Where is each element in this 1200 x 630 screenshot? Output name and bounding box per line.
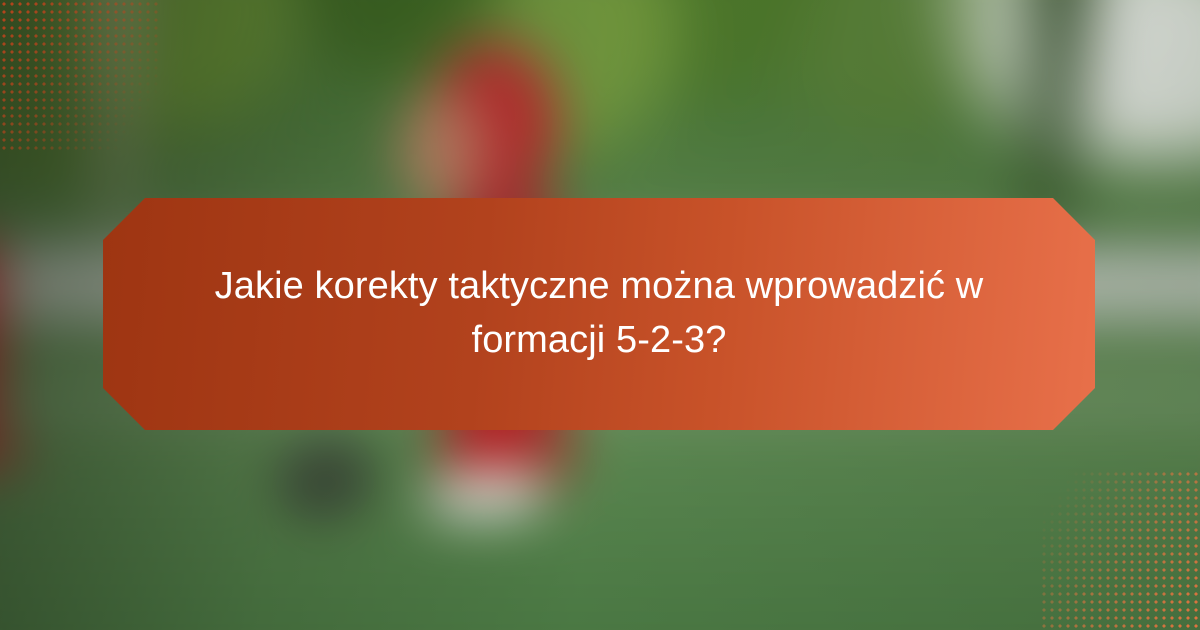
headline-card: Jakie korekty taktyczne można wprowadzić… bbox=[103, 198, 1095, 430]
social-card-canvas: Jakie korekty taktyczne można wprowadzić… bbox=[0, 0, 1200, 630]
page-title: Jakie korekty taktyczne można wprowadzić… bbox=[199, 260, 999, 368]
